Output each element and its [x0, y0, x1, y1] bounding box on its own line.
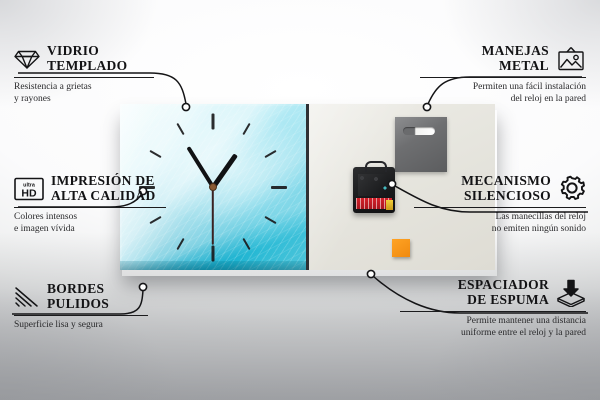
feature-heading: MANEJAS METAL	[420, 44, 586, 73]
feature-espaciador-espuma[interactable]: ESPACIADOR DE ESPUMA Permite mantener un…	[400, 278, 586, 339]
feature-heading: VIDRIO TEMPLADO	[14, 44, 154, 73]
feature-divider	[414, 207, 586, 208]
feature-divider	[14, 315, 148, 316]
feature-desc-line-1: Resistencia a grietas	[14, 82, 154, 94]
hanging-frame-icon	[556, 46, 586, 72]
infographic-canvas: VIDRIO TEMPLADO Resistencia a grietas y …	[0, 0, 600, 400]
feature-desc-line-2: y rayones	[14, 94, 154, 106]
feature-title: BORDES PULIDOS	[47, 282, 109, 311]
feature-vidrio-templado[interactable]: VIDRIO TEMPLADO Resistencia a grietas y …	[14, 44, 154, 105]
movement-hanging-loop	[365, 161, 387, 172]
feature-heading: ESPACIADOR DE ESPUMA	[400, 278, 586, 307]
feature-desc-line-1: Las manecillas del reloj	[414, 212, 586, 224]
clock-tick	[212, 245, 215, 261]
feature-divider	[14, 207, 166, 208]
movement-details	[358, 174, 388, 196]
feature-heading: ultra HD IMPRESIÓN DE ALTA CALIDAD	[14, 174, 166, 203]
polished-edges-icon	[14, 286, 40, 308]
feature-desc-line-2: no emiten ningún sonido	[414, 224, 586, 236]
metal-hanger-plate	[395, 117, 447, 172]
feature-divider	[420, 77, 586, 78]
feature-desc-line-2: del reloj en la pared	[420, 94, 586, 106]
ultra-hd-icon: ultra HD	[14, 177, 44, 201]
feature-desc-line-1: Permiten una fácil instalación	[420, 82, 586, 94]
feature-impresion-alta-calidad[interactable]: ultra HD IMPRESIÓN DE ALTA CALIDAD Color…	[14, 174, 166, 235]
feature-desc-line-1: Superficie lisa y segura	[14, 320, 148, 332]
feature-desc-line-2: e imagen vívida	[14, 224, 166, 236]
second-hand	[212, 187, 214, 245]
feature-title: MECANISMO SILENCIOSO	[461, 174, 551, 203]
feature-title: VIDRIO TEMPLADO	[47, 44, 127, 73]
foam-spacer-part	[392, 239, 410, 257]
feature-manejas-metal[interactable]: MANEJAS METAL Permiten una fácil instala…	[420, 44, 586, 105]
feature-title: IMPRESIÓN DE ALTA CALIDAD	[51, 174, 156, 203]
feature-title: ESPACIADOR DE ESPUMA	[458, 278, 549, 307]
feature-heading: BORDES PULIDOS	[14, 282, 148, 311]
feature-desc-line-1: Permite mantener una distancia	[400, 316, 586, 328]
feature-divider	[400, 311, 586, 312]
feature-divider	[14, 77, 154, 78]
quartz-movement	[353, 167, 395, 213]
feature-desc-line-1: Colores intensos	[14, 212, 166, 224]
clock-tick	[271, 186, 287, 189]
gear-icon	[558, 175, 586, 202]
feature-heading: MECANISMO SILENCIOSO	[414, 174, 586, 203]
feature-mecanismo-silencioso[interactable]: MECANISMO SILENCIOSO Las manecillas del …	[414, 174, 586, 235]
diamond-icon	[14, 48, 40, 70]
svg-text:HD: HD	[21, 187, 37, 199]
feature-bordes-pulidos[interactable]: BORDES PULIDOS Superficie lisa y segura	[14, 282, 148, 332]
feature-title: MANEJAS METAL	[482, 44, 549, 73]
feature-desc-line-2: uniforme entre el reloj y la pared	[400, 328, 586, 340]
movement-gold-contact	[386, 200, 393, 210]
foam-spacer-icon	[556, 279, 586, 307]
clock-tick	[212, 113, 215, 129]
panel-bottom-edge	[120, 261, 306, 270]
hanger-slot	[403, 127, 435, 135]
clock-center-cap	[209, 183, 217, 191]
